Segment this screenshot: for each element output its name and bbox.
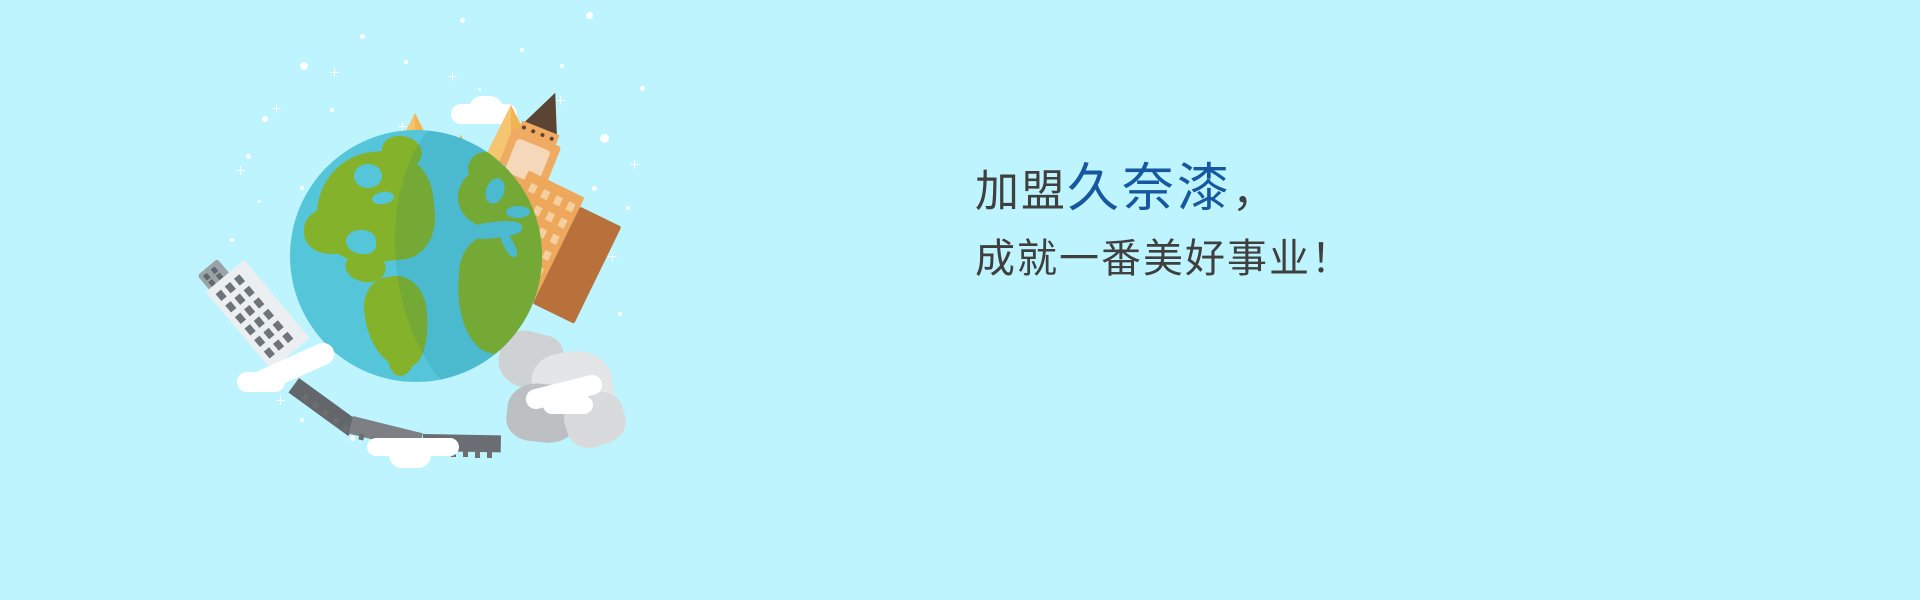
star-dot bbox=[520, 48, 524, 52]
promo-banner: 加盟久奈漆， 成就一番美好事业！ bbox=[0, 0, 1920, 600]
headline-prefix: 加盟 bbox=[975, 167, 1067, 216]
headline: 加盟久奈漆， 成就一番美好事业！ bbox=[975, 150, 1675, 290]
star-dot bbox=[360, 34, 365, 39]
headline-comma: ， bbox=[1232, 167, 1276, 216]
cloud-icon bbox=[543, 396, 593, 414]
cloud-icon bbox=[389, 442, 431, 468]
star-dot bbox=[586, 12, 593, 19]
star-dot bbox=[460, 18, 465, 23]
great-wall-icon bbox=[297, 360, 567, 450]
cloud-icon bbox=[237, 372, 285, 392]
brand-name: 久奈漆 bbox=[1067, 160, 1232, 218]
world-globe-illustration bbox=[225, 60, 645, 480]
headline-line-1: 加盟久奈漆， bbox=[975, 150, 1675, 229]
headline-line-2: 成就一番美好事业！ bbox=[975, 229, 1675, 290]
